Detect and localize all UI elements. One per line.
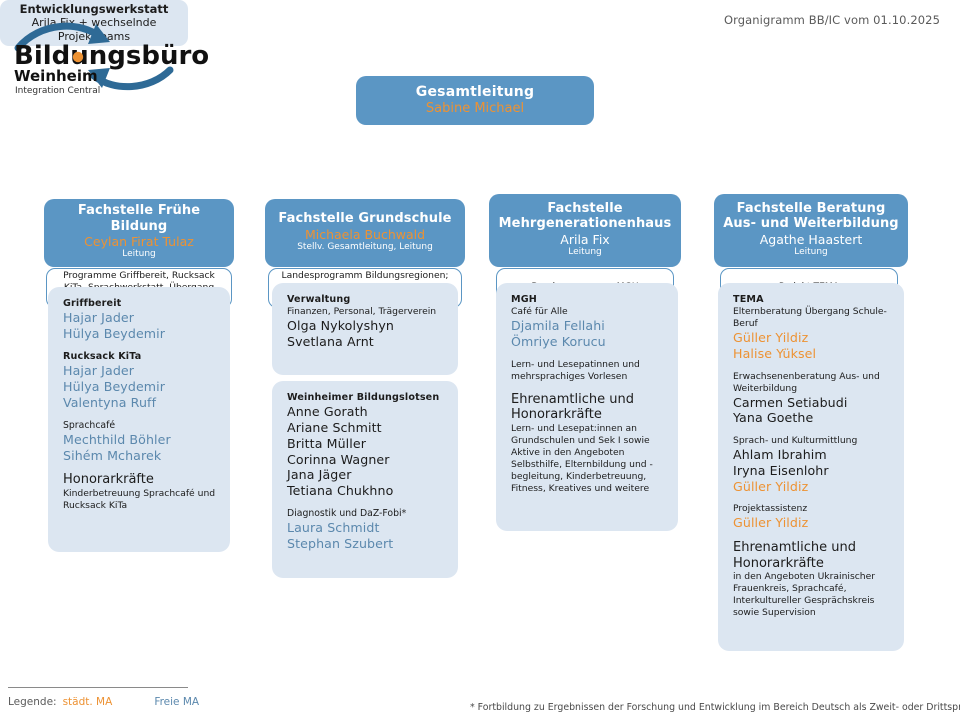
person-name: Hülya Beydemir [63,326,217,342]
group-note: Projektassistenz [733,503,891,515]
person-name: Iryna Eisenlohr [733,463,891,479]
panel-group: VerwaltungFinanzen, Personal, Trägervere… [287,294,445,350]
group-note: Café für Alle [511,306,665,318]
column-title: Fachstelle Mehrgenerationenhaus [495,201,675,232]
column-title: Fachstelle Beratung Aus- und Weiterbildu… [720,201,902,232]
logo-accent-dot [73,52,83,62]
person-name: Güller Yildiz [733,479,891,495]
person-name: Stephan Szubert [287,536,445,552]
group-title: Verwaltung [287,294,445,306]
person-name: Jana Jäger [287,467,445,483]
column-title: Fachstelle Frühe Bildung [50,203,228,234]
column-lead-name: Arila Fix [560,232,609,247]
group-note: in den Angeboten Ukrainischer Frauenkrei… [733,571,891,619]
group-title: Ehrenamtliche und Honorarkräfte [733,540,891,571]
group-note: Kinderbetreuung Sprachcafé und Rucksack … [63,488,217,512]
column-panel: GriffbereitHajar JaderHülya BeydemirRuck… [48,287,230,552]
column-lead-name: Michaela Buchwald [305,227,425,242]
gesamtleitung-title: Gesamtleitung [416,84,534,101]
panel-group: GriffbereitHajar JaderHülya Beydemir [63,298,217,342]
legend-item-staedt-ma: städt. MA [63,696,113,708]
person-name: Hülya Beydemir [63,379,217,395]
panel-group: Weinheimer BildungslotsenAnne GorathAria… [287,392,445,499]
column-lead-name: Agathe Haastert [760,232,863,247]
group-note: Sprach- und Kulturmittlung [733,435,891,447]
gesamtleitung-box: Gesamtleitung Sabine Michael [356,76,594,125]
logo-text-secondary: Weinheim [14,67,98,85]
column-lead-role: Stellv. Gesamtleitung, Leitung [297,242,433,253]
group-title: Weinheimer Bildungslotsen [287,392,445,404]
panel-group: Diagnostik und DaZ-Fobi*Laura SchmidtSte… [287,508,445,552]
legend-divider [8,687,188,688]
group-note: Elternberatung Übergang Schule-Beruf [733,306,891,330]
panel-group: Ehrenamtliche und Honorarkräftein den An… [733,540,891,619]
person-name: Djamila Fellahi [511,318,665,334]
person-name: Hajar Jader [63,363,217,379]
person-name: Valentyna Ruff [63,395,217,411]
logo-text-tagline: Integration Central [15,86,100,96]
person-name: Hajar Jader [63,310,217,326]
panel-group: SprachcaféMechthild BöhlerSihém Mcharek [63,420,217,464]
column-panel: TEMAElternberatung Übergang Schule-Beruf… [718,283,904,651]
logo-graphic: Bildungsbüro Weinheim Integration Centra… [10,18,220,98]
column-lead-role: Leitung [568,247,602,258]
group-note: Lern- und Lesepat:innen an Grundschulen … [511,423,665,495]
group-title: MGH [511,294,665,306]
column-lead-name: Ceylan Firat Tulaz [84,234,194,249]
group-note: Erwachsenenberatung Aus- und Weiterbildu… [733,371,891,395]
group-title: Rucksack KiTa [63,351,217,363]
panel-group: Ehrenamtliche und HonorarkräfteLern- und… [511,392,665,495]
panel-group: Lern- und Lesepatinnen und mehrsprachige… [511,359,665,383]
panel-group: Erwachsenenberatung Aus- und Weiterbildu… [733,371,891,426]
footnote: * Fortbildung zu Ergebnissen der Forschu… [470,702,960,713]
person-name: Ömriye Korucu [511,334,665,350]
group-note: Lern- und Lesepatinnen und mehrsprachige… [511,359,665,383]
group-title: Honorarkräfte [63,472,217,488]
person-name: Sihém Mcharek [63,448,217,464]
panel-group: ProjektassistenzGüller Yildiz [733,503,891,531]
person-name: Güller Yildiz [733,515,891,531]
person-name: Olga Nykolyshyn [287,318,445,334]
column-head-box: Fachstelle MehrgenerationenhausArila Fix… [489,194,681,267]
group-note: Finanzen, Personal, Trägerverein [287,306,445,318]
column-panel: VerwaltungFinanzen, Personal, Trägervere… [272,283,458,375]
group-title: TEMA [733,294,891,306]
person-name: Anne Gorath [287,404,445,420]
entwicklungswerkstatt-title: Entwicklungswerkstatt [20,2,169,16]
column-head-box: Fachstelle Beratung Aus- und Weiterbildu… [714,194,908,267]
person-name: Svetlana Arnt [287,334,445,350]
person-name: Ariane Schmitt [287,420,445,436]
person-name: Güller Yildiz [733,330,891,346]
column-lead-role: Leitung [122,249,156,260]
person-name: Ahlam Ibrahim [733,447,891,463]
panel-group: Sprach- und KulturmittlungAhlam IbrahimI… [733,435,891,494]
group-title: Ehrenamtliche und Honorarkräfte [511,392,665,423]
panel-group: HonorarkräfteKinderbetreuung Sprachcafé … [63,472,217,512]
panel-group: Rucksack KiTaHajar JaderHülya BeydemirVa… [63,351,217,411]
document-title: Organigramm BB/IC vom 01.10.2025 [724,13,940,27]
panel-group: TEMAElternberatung Übergang Schule-Beruf… [733,294,891,362]
person-name: Britta Müller [287,436,445,452]
group-title: Sprachcafé [63,420,217,432]
legend-item-freie-ma: Freie MA [154,696,199,708]
column-head-box: Fachstelle GrundschuleMichaela BuchwaldS… [265,199,465,267]
legend: Legende:städt. MAFreie MA [8,696,199,708]
logo: Bildungsbüro Weinheim Integration Centra… [10,18,220,96]
person-name: Carmen Setiabudi [733,395,891,411]
group-title: Griffbereit [63,298,217,310]
person-name: Laura Schmidt [287,520,445,536]
column-panel: MGHCafé für AlleDjamila FellahiÖmriye Ko… [496,283,678,531]
person-name: Mechthild Böhler [63,432,217,448]
column-panel: Weinheimer BildungslotsenAnne GorathAria… [272,381,458,578]
column-title: Fachstelle Grundschule [278,211,451,227]
person-name: Yana Goethe [733,410,891,426]
person-name: Corinna Wagner [287,452,445,468]
group-title: Diagnostik und DaZ-Fobi* [287,508,445,520]
legend-label: Legende: [8,696,57,708]
column-head-box: Fachstelle Frühe BildungCeylan Firat Tul… [44,199,234,267]
person-name: Tetiana Chukhno [287,483,445,499]
column-lead-role: Leitung [794,247,828,258]
gesamtleitung-name: Sabine Michael [426,101,524,117]
panel-group: MGHCafé für AlleDjamila FellahiÖmriye Ko… [511,294,665,350]
person-name: Halise Yüksel [733,346,891,362]
